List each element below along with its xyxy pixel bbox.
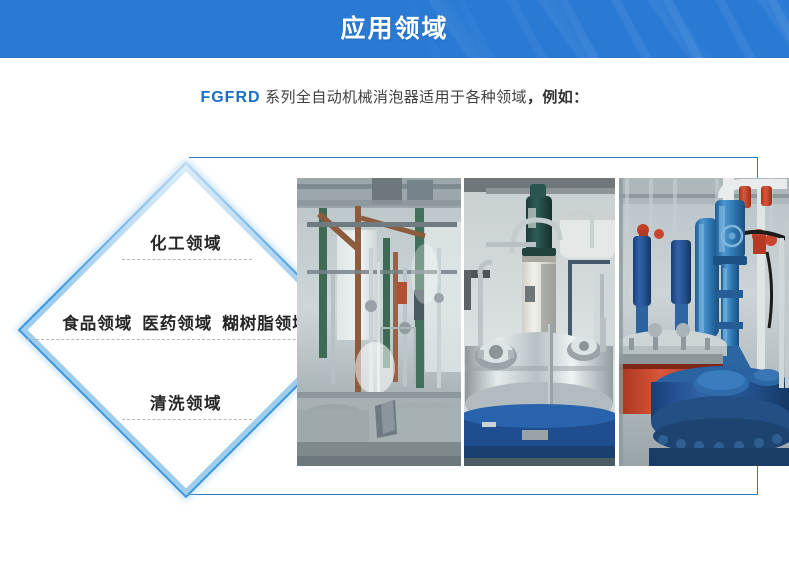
- divider-cleaning: [122, 419, 252, 420]
- photo-stainless-reactor-graphic: [464, 178, 615, 466]
- brand-name: FGFRD: [200, 89, 260, 106]
- subtitle-emphasis: ，例如：: [527, 89, 589, 106]
- photo-blue-reactors-graphic: [619, 178, 789, 466]
- field-label-pharma: 医药领域: [142, 310, 212, 334]
- page-root: 应用领域 FGFRD 系列全自动机械消泡器适用于各种领域，例如： 化工领域 食品…: [0, 0, 789, 570]
- photo-blue-reactors: [619, 178, 789, 466]
- field-label-chemical: 化工领域: [150, 230, 222, 254]
- photo-chemical-plant-graphic: [297, 178, 461, 466]
- subtitle-text: 系列全自动机械消泡器适用于各种领域: [261, 89, 527, 106]
- photo-chemical-plant: [297, 178, 461, 466]
- divider-chemical: [122, 259, 252, 260]
- subtitle: FGFRD 系列全自动机械消泡器适用于各种领域，例如：: [0, 86, 789, 107]
- field-label-food: 食品领域: [62, 310, 132, 334]
- page-title: 应用领域: [0, 0, 789, 58]
- field-label-cleaning: 清洗领域: [150, 390, 222, 414]
- header-banner: 应用领域: [0, 0, 789, 58]
- photo-stainless-reactor: [464, 178, 615, 466]
